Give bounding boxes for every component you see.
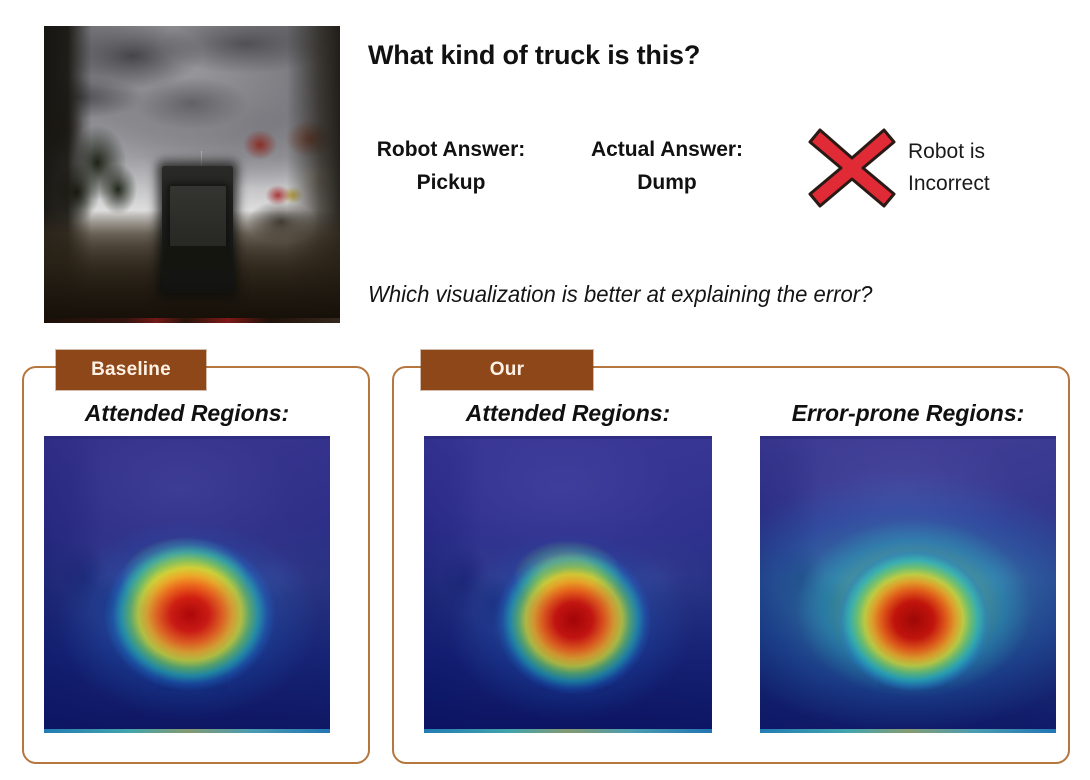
heatmap-bottom-edge [424,729,712,733]
heatmap-top-edge [760,436,1056,439]
red-cross-icon [806,122,898,214]
robot-answer-block: Robot Answer: Pickup [358,139,544,193]
actual-answer-value: Dump [572,172,762,193]
actual-answer-label: Actual Answer: [572,139,762,160]
photo-truck-bumper [165,246,230,270]
photo-bottom-strip [44,318,340,323]
question-title: What kind of truck is this? [368,40,700,71]
our-attended-regions-label: Attended Regions: [424,402,712,425]
heatmap-bottom-edge [44,729,330,733]
comparison-prompt: Which visualization is better at explain… [368,281,872,308]
robot-answer-label: Robot Answer: [358,139,544,160]
baseline-panel-badge: Baseline [56,350,206,390]
robot-answer-value: Pickup [358,172,544,193]
source-image-photo [44,26,340,323]
actual-answer-block: Actual Answer: Dump [572,139,762,193]
heatmap-top-edge [424,436,712,439]
verdict-text: Robot is Incorrect [908,136,990,200]
heatmap-jet-overlay [760,436,1056,733]
verdict-line-2: Incorrect [908,168,990,200]
heatmap-jet-overlay [44,436,330,733]
baseline-attended-regions-label: Attended Regions: [44,402,330,425]
our-error-prone-regions-label: Error-prone Regions: [760,402,1056,425]
our-panel-badge: Our [421,350,593,390]
verdict-line-1: Robot is [908,136,990,168]
baseline-attended-heatmap [44,436,330,733]
our-errorprone-heatmap [760,436,1056,733]
heatmap-jet-overlay [424,436,712,733]
our-attended-heatmap [424,436,712,733]
heatmap-top-edge [44,436,330,439]
heatmap-bottom-edge [760,729,1056,733]
